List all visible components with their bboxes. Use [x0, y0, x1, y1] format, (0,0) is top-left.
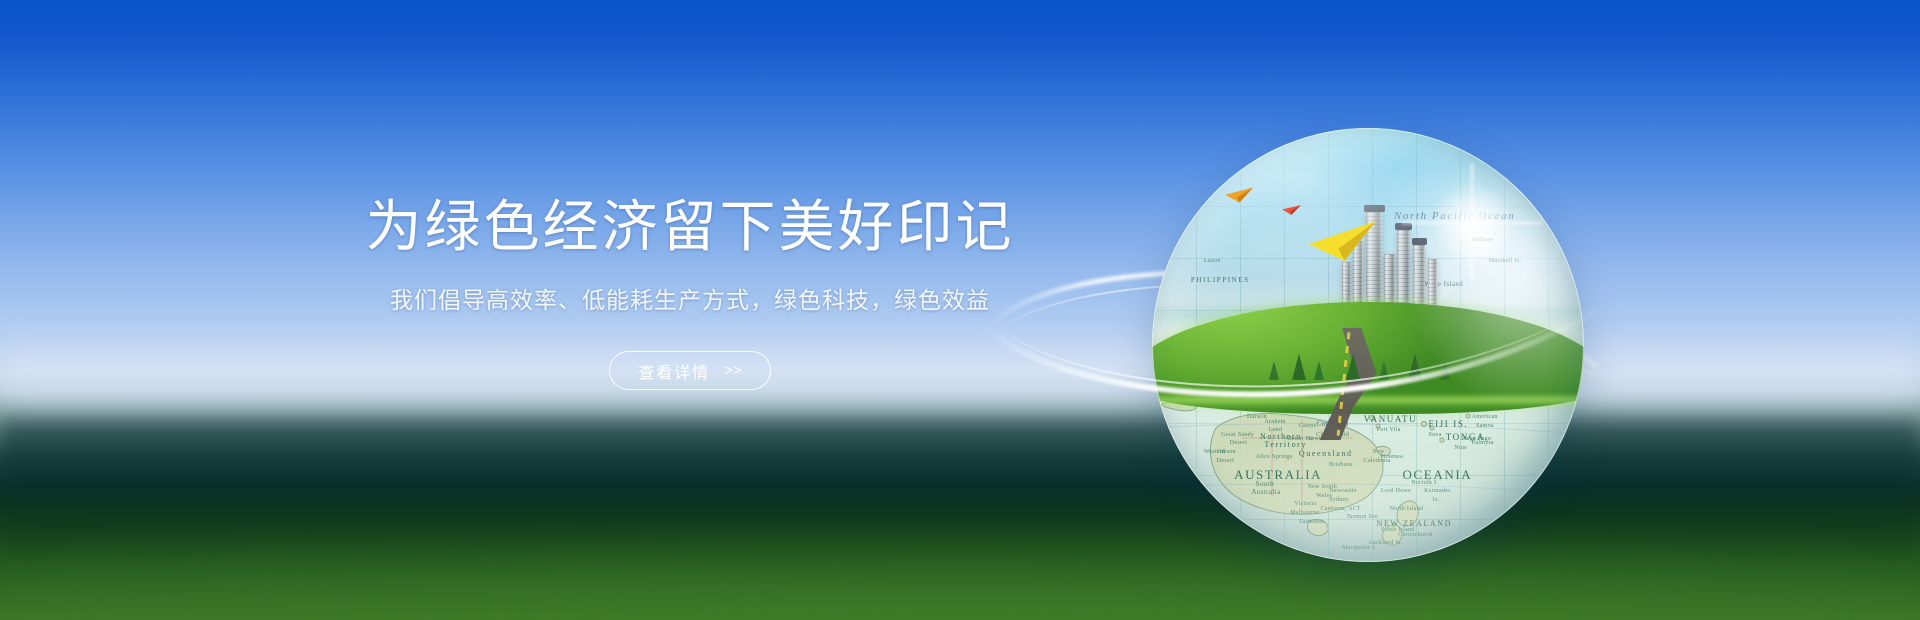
globe-sphere: North Pacific OceanMidwayWake IslandMars… — [1152, 128, 1584, 562]
banner-copy: 为绿色经济留下美好印记 我们倡导高效率、低能耗生产方式，绿色科技，绿色效益 查看… — [330, 196, 1050, 390]
foreground-trees — [1256, 319, 1481, 380]
rooftop-cap — [1364, 205, 1385, 212]
page-title: 为绿色经济留下美好印记 — [330, 196, 1050, 259]
cta-label: 查看详情 — [638, 359, 710, 383]
globe-landscape — [1152, 128, 1584, 562]
chevron-right-icon: >> — [724, 362, 742, 379]
hill-highlight — [1152, 397, 1584, 407]
hero-banner: North Pacific OceanMidwayWake IslandMars… — [0, 0, 1920, 620]
rooftop-cap — [1395, 223, 1412, 230]
view-details-button[interactable]: 查看详情 >> — [609, 351, 771, 390]
globe-illustration: North Pacific OceanMidwayWake IslandMars… — [1152, 128, 1584, 562]
ground-blur-layer — [0, 418, 1920, 620]
banner-subtitle: 我们倡导高效率、低能耗生产方式，绿色科技，绿色效益 — [330, 283, 1050, 318]
rooftop-cap — [1412, 238, 1427, 245]
cta-container: 查看详情 >> — [330, 351, 1050, 390]
map-label: Tahiti — [1515, 527, 1531, 533]
